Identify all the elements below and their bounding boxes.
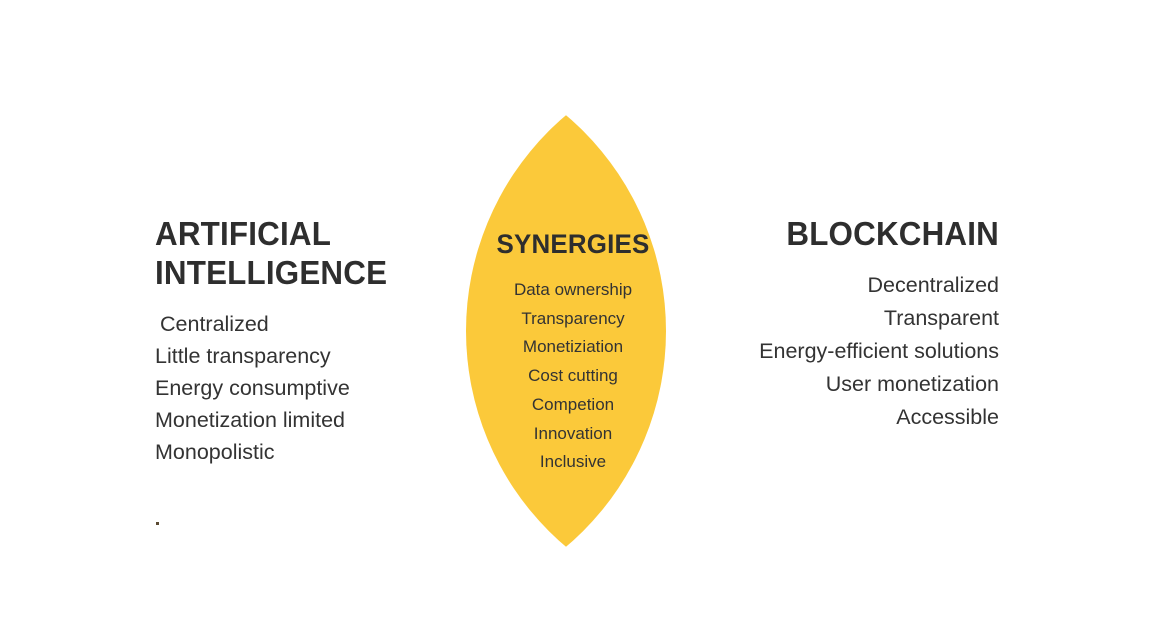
panel-artificial-intelligence: ARTIFICIAL INTELLIGENCE Centralized Litt… — [155, 214, 455, 468]
list-artificial-intelligence: Centralized Little transparency Energy c… — [155, 308, 455, 468]
heading-line-1: ARTIFICIAL — [155, 214, 440, 253]
list-item: Energy consumptive — [155, 372, 455, 404]
list-item: Transparent — [704, 302, 999, 335]
list-item: Centralized — [155, 308, 455, 340]
heading-blockchain: BLOCKCHAIN — [719, 214, 999, 253]
list-item: Little transparency — [155, 340, 455, 372]
list-item: Data ownership — [455, 276, 691, 305]
list-item: Monopolistic — [155, 436, 455, 468]
venn-diagram-canvas: ARTIFICIAL INTELLIGENCE Centralized Litt… — [0, 0, 1170, 637]
heading-synergies: SYNERGIES — [460, 228, 687, 260]
list-item: Innovation — [455, 420, 691, 449]
panel-synergies: SYNERGIES Data ownership Transparency Mo… — [455, 228, 691, 477]
list-item: Decentralized — [704, 269, 999, 302]
list-blockchain: Decentralized Transparent Energy-efficie… — [704, 269, 999, 434]
list-item: Inclusive — [455, 448, 691, 477]
list-synergies: Data ownership Transparency Monetiziatio… — [455, 276, 691, 477]
heading-artificial-intelligence: ARTIFICIAL INTELLIGENCE — [155, 214, 440, 292]
list-item: Cost cutting — [455, 362, 691, 391]
list-item: Transparency — [455, 305, 691, 334]
list-item: Competion — [455, 391, 691, 420]
stray-dot-artifact — [156, 522, 159, 525]
list-item: Monetization limited — [155, 404, 455, 436]
list-item: Accessible — [704, 401, 999, 434]
list-item: User monetization — [704, 368, 999, 401]
panel-blockchain: BLOCKCHAIN Decentralized Transparent Ene… — [704, 214, 999, 434]
heading-line-2: INTELLIGENCE — [155, 253, 440, 292]
list-item: Monetiziation — [455, 333, 691, 362]
list-item: Energy-efficient solutions — [704, 335, 999, 368]
